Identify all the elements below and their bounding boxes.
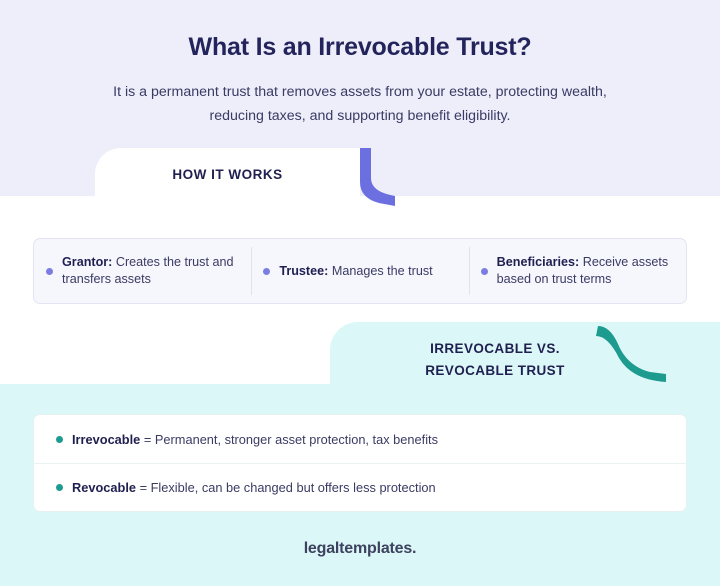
bullet-dot-icon [46,268,53,275]
comparison-description: = Permanent, stronger asset protection, … [140,432,438,447]
comparison-row-revocable: Revocable = Flexible, can be changed but… [34,463,686,511]
bullet-dot-icon [56,484,63,491]
infographic-root: What Is an Irrevocable Trust? It is a pe… [0,0,720,586]
comparison-card: Irrevocable = Permanent, stronger asset … [33,414,687,512]
page-title: What Is an Irrevocable Trust? [0,33,720,62]
role-card-text: Grantor: Creates the trust and transfers… [62,254,237,288]
bullet-dot-icon [481,268,488,275]
role-term: Trustee: [279,264,328,278]
role-card-text: Trustee: Manages the trust [279,263,432,280]
hero-subtitle: It is a permanent trust that removes ass… [110,80,610,128]
how-it-works-label: HOW IT WORKS [95,167,360,182]
roles-card-group: Grantor: Creates the trust and transfers… [33,238,687,304]
role-card-grantor: Grantor: Creates the trust and transfers… [34,239,251,303]
role-term: Beneficiaries: [497,255,580,269]
bullet-dot-icon [263,268,270,275]
ribbon-tail-purple-icon [355,148,415,210]
role-card-beneficiaries: Beneficiaries: Receive assets based on t… [469,239,686,303]
comparison-term: Irrevocable [72,432,140,447]
comparison-description: = Flexible, can be changed but offers le… [136,480,436,495]
role-term: Grantor: [62,255,112,269]
role-card-text: Beneficiaries: Receive assets based on t… [497,254,672,288]
comparison-term: Revocable [72,480,136,495]
ribbon-notch [95,196,125,210]
comparison-label-line1: IRREVOCABLE VS. [330,338,660,360]
comparison-row-irrevocable: Irrevocable = Permanent, stronger asset … [34,415,686,463]
how-it-works-ribbon: HOW IT WORKS [0,148,720,210]
role-card-trustee: Trustee: Manages the trust [251,239,468,303]
brand-logo-text: legaltemplates. [0,540,720,558]
bullet-dot-icon [56,436,63,443]
comparison-row-text: Revocable = Flexible, can be changed but… [72,480,436,495]
comparison-label-line2: REVOCABLE TRUST [330,360,660,382]
comparison-row-text: Irrevocable = Permanent, stronger asset … [72,432,438,447]
comparison-label: IRREVOCABLE VS. REVOCABLE TRUST [330,338,660,382]
role-description: Manages the trust [328,264,432,278]
